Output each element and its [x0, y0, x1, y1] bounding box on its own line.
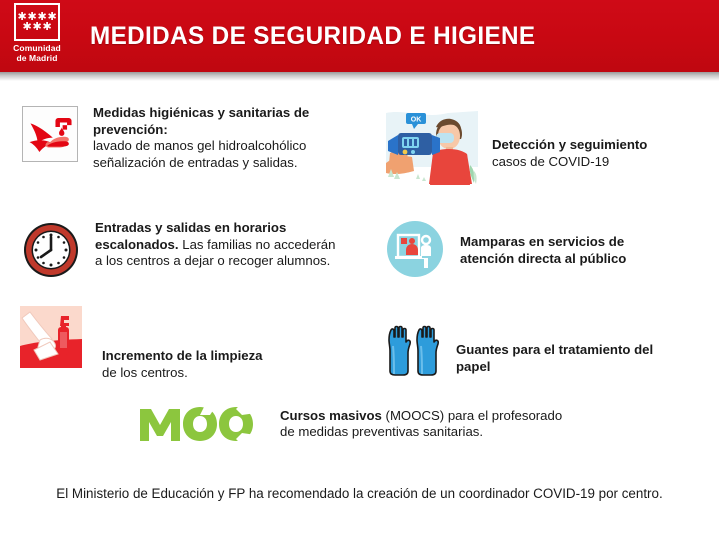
- measure-item-mamparas: Mamparas en servicios de atención direct…: [374, 220, 719, 278]
- measure-item-limpieza: Incremento de la limpieza de los centros…: [0, 306, 374, 381]
- measure-rest-higiene-2: señalización de entradas y salidas.: [93, 155, 349, 172]
- measure-rest-deteccion-1: casos de COVID-19: [492, 154, 647, 171]
- logo-text: Comunidad de Madrid: [13, 43, 61, 63]
- measures-row-3: Incremento de la limpieza de los centros…: [0, 306, 719, 381]
- measure-text-mamparas: Mamparas en servicios de atención direct…: [460, 234, 660, 267]
- measure-text-mooc: Cursos masivos (MOOCS) para el profesora…: [280, 408, 562, 441]
- measure-text-guantes: Guantes para el tratamiento del papel: [456, 342, 670, 375]
- star-icon: ✱: [43, 23, 52, 32]
- measure-bold-deteccion: Detección y seguimiento: [492, 137, 647, 152]
- temperature-check-icon: OK: [386, 105, 478, 185]
- measures-content: Medidas higiénicas y sanitarias de preve…: [0, 105, 719, 445]
- cleaning-spray-icon: [20, 306, 82, 368]
- logo-text-line1: Comunidad: [13, 43, 61, 53]
- measure-text-higiene: Medidas higiénicas y sanitarias de preve…: [93, 105, 349, 171]
- footer-note: El Ministerio de Educación y FP ha recom…: [0, 486, 719, 501]
- measure-bold-higiene: Medidas higiénicas y sanitarias de preve…: [93, 105, 309, 137]
- page-header: ✱ ✱ ✱ ✱ ✱ ✱ ✱ Comunidad de Madrid MEDIDA…: [0, 0, 719, 72]
- measure-rest-higiene-1: lavado de manos gel hidroalcohólico: [93, 138, 349, 155]
- header-shadow-divider: [0, 72, 719, 81]
- measure-item-mooc: Cursos masivos (MOOCS) para el profesora…: [0, 403, 719, 445]
- measure-text-horarios: Entradas y salidas en horarios escalonad…: [95, 220, 357, 270]
- measure-bold-limpieza: Incremento de la limpieza: [102, 348, 263, 363]
- measure-text-deteccion: Detección y seguimiento casos de COVID-1…: [492, 137, 647, 170]
- logo-star-box: ✱ ✱ ✱ ✱ ✱ ✱ ✱: [14, 3, 60, 41]
- measure-item-higiene: Medidas higiénicas y sanitarias de preve…: [0, 105, 374, 171]
- measure-rest-horarios-2: a los centros a dejar o recoger alumnos.: [95, 253, 357, 270]
- measure-item-horarios: Entradas y salidas en horarios escalonad…: [0, 220, 374, 279]
- page-title: MEDIDAS DE SEGURIDAD E HIGIENE: [90, 22, 536, 51]
- measure-bold-mamparas: Mamparas en servicios de atención direct…: [460, 234, 626, 266]
- measures-row-2: Entradas y salidas en horarios escalonad…: [0, 220, 719, 279]
- measure-text-limpieza: Incremento de la limpieza de los centros…: [102, 348, 263, 381]
- measure-item-guantes: Guantes para el tratamiento del papel: [374, 324, 719, 380]
- gloves-icon: [386, 324, 440, 380]
- service-counter-icon: [386, 220, 444, 278]
- svg-text:OK: OK: [411, 117, 422, 124]
- handwashing-icon: [22, 106, 78, 162]
- measure-bold-guantes: Guantes para el tratamiento del papel: [456, 342, 653, 374]
- mooc-rest-1: (MOOCS) para el profesorado: [382, 408, 562, 423]
- mooc-logo-icon: [138, 403, 258, 445]
- measure-item-deteccion: OK: [374, 105, 719, 185]
- measure-rest-horarios-1: Las familias no accederán: [182, 237, 335, 252]
- measure-rest-limpieza-1: de los centros.: [102, 365, 263, 382]
- comunidad-de-madrid-logo: ✱ ✱ ✱ ✱ ✱ ✱ ✱ Comunidad de Madrid: [0, 0, 74, 72]
- measures-row-1: Medidas higiénicas y sanitarias de preve…: [0, 105, 719, 185]
- star-icon: ✱: [23, 23, 32, 32]
- mooc-bold: Cursos masivos: [280, 408, 382, 423]
- logo-text-line2: de Madrid: [13, 53, 61, 63]
- star-icon: ✱: [33, 23, 42, 32]
- mooc-rest-2: de medidas preventivas sanitarias.: [280, 424, 562, 441]
- logo-stars-bottom-row: ✱ ✱ ✱: [23, 23, 52, 32]
- clock-icon: [22, 221, 80, 279]
